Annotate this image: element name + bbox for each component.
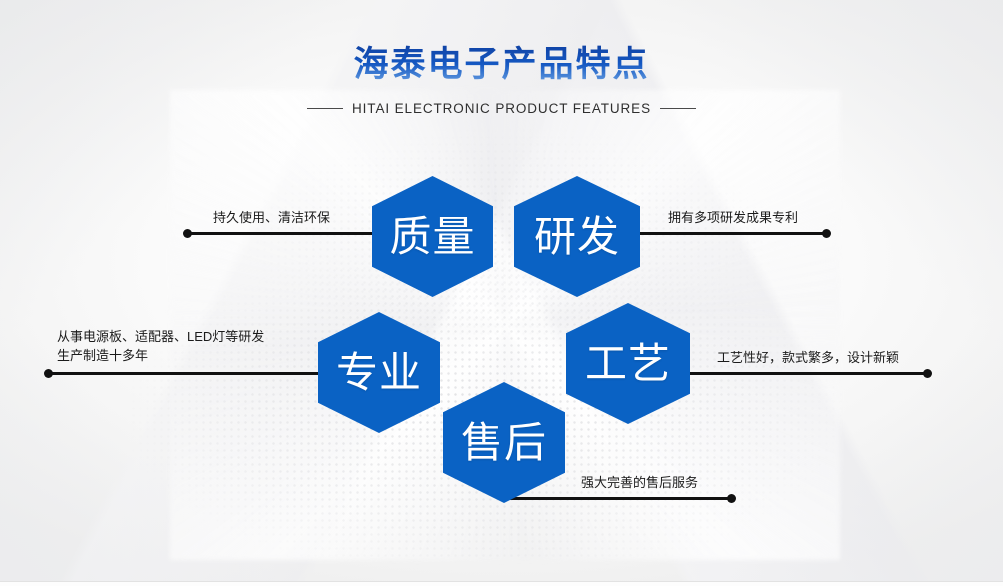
feature-diagram-canvas: 海泰电子产品特点 HITAI ELECTRONIC PRODUCT FEATUR…	[0, 0, 1003, 586]
connector-label-pro: 从事电源板、适配器、LED灯等研发 生产制造十多年	[57, 327, 264, 365]
connector-line-rd	[632, 232, 826, 235]
page-title-block: 海泰电子产品特点 HITAI ELECTRONIC PRODUCT FEATUR…	[0, 42, 1003, 116]
background-bottom-rule	[0, 581, 1003, 582]
page-title: 海泰电子产品特点	[0, 42, 1003, 88]
connector-label-pro-line2: 生产制造十多年	[57, 346, 264, 365]
background-bottom-strip	[0, 582, 1003, 586]
connector-label-pro-line1: 从事电源板、适配器、LED灯等研发	[57, 327, 264, 346]
connector-label-craft: 工艺性好，款式繁多，设计新颖	[717, 348, 899, 367]
connector-line-pro	[48, 372, 328, 375]
hexagon-rd-label: 研发	[534, 216, 620, 258]
connector-line-quality	[187, 232, 379, 235]
connector-dot-craft	[923, 369, 932, 378]
connector-line-craft	[683, 372, 927, 375]
subtitle-rule-left	[307, 108, 343, 109]
connector-dot-service	[727, 494, 736, 503]
connector-label-service: 强大完善的售后服务	[581, 473, 698, 492]
subtitle-rule-right	[660, 108, 696, 109]
hexagon-craft-label: 工艺	[585, 343, 671, 385]
connector-label-rd: 拥有多项研发成果专利	[668, 208, 798, 227]
connector-line-service	[505, 497, 731, 500]
hexagon-quality-label: 质量	[389, 216, 475, 258]
page-subtitle-row: HITAI ELECTRONIC PRODUCT FEATURES	[0, 101, 1003, 116]
page-subtitle: HITAI ELECTRONIC PRODUCT FEATURES	[352, 101, 651, 116]
hexagon-after-sales-label: 售后	[461, 422, 547, 464]
connector-dot-rd	[822, 229, 831, 238]
connector-label-quality: 持久使用、清洁环保	[213, 208, 330, 227]
hexagon-professional-label: 专业	[336, 352, 422, 394]
